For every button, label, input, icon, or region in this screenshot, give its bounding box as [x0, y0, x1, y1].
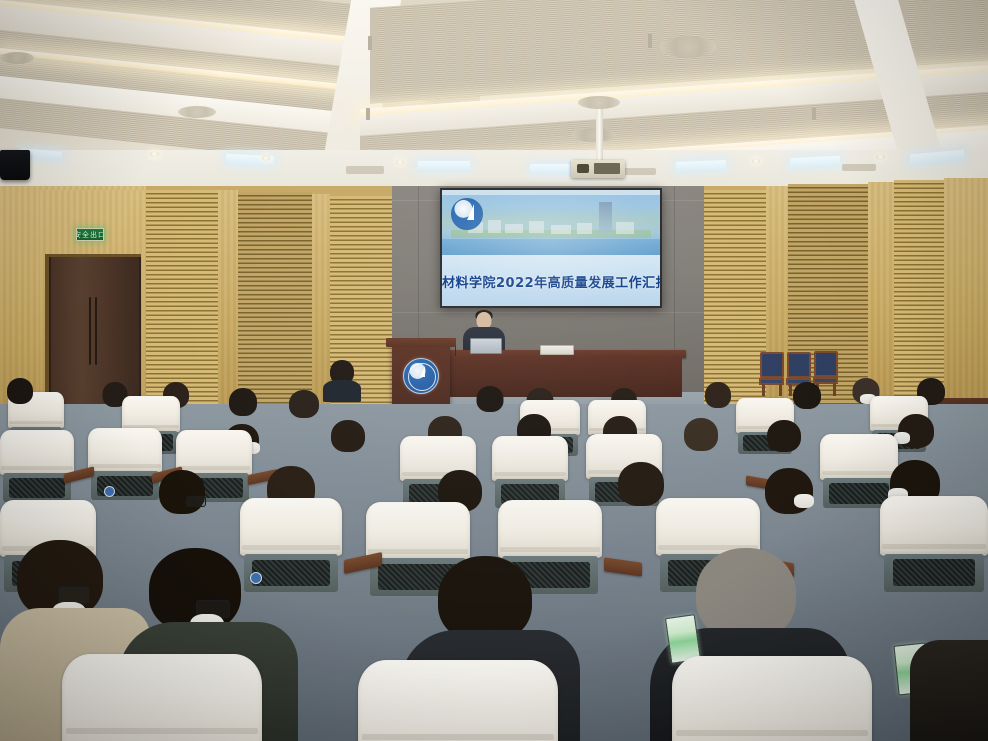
seat-r2-s5[interactable]: [492, 436, 568, 508]
seat-mesh-panel: [9, 478, 65, 498]
seat-mesh-panel: [252, 560, 330, 586]
attendee-person: [760, 420, 808, 462]
seat-r4-s3[interactable]: [672, 656, 872, 741]
attendee-head: [331, 420, 365, 452]
projector-body-detail: [594, 163, 620, 174]
side-chair-leg: [762, 384, 765, 396]
face-mask: [794, 494, 814, 508]
ceiling-air-vent: [842, 164, 876, 171]
ceiling-air-diffuser: [572, 128, 616, 142]
seat-cover-band: [500, 547, 600, 552]
ceiling-downlight: [396, 159, 404, 165]
seat-cover-band: [362, 734, 554, 740]
seat-mesh-panel: [893, 559, 975, 586]
campus-building: [529, 221, 544, 233]
attendee-person: [676, 418, 726, 462]
lectern-top: [386, 338, 456, 347]
side-chair[interactable]: [760, 352, 784, 396]
seat-r3-s6[interactable]: [880, 496, 988, 592]
lectern-university-emblem-icon: [403, 358, 439, 394]
attendee-person: [324, 360, 360, 394]
campus-tower-building: [599, 202, 612, 235]
projector-mount-pole: [596, 104, 603, 162]
door-handle-icon[interactable]: [95, 297, 97, 365]
ceiling-air-vent: [346, 166, 384, 174]
exit-sign-label: 安全出口: [76, 230, 104, 240]
seat-cover-band: [66, 728, 258, 734]
attendee-coat: [910, 640, 988, 741]
led-panel-light: [418, 161, 470, 170]
attendee-head: [229, 388, 257, 416]
side-chair-back: [814, 351, 838, 377]
attendee-head: [767, 420, 801, 452]
presenter-laptop[interactable]: [470, 338, 502, 354]
ceiling-downlight: [262, 155, 270, 161]
attendee-person: [756, 468, 822, 530]
university-sailboat-emblem-icon: [451, 198, 483, 230]
attendee-head: [696, 548, 796, 640]
attendee-head: [477, 386, 504, 412]
seat-r2-s1[interactable]: [0, 430, 74, 502]
seat-cover-band: [368, 549, 468, 554]
campus-river: [442, 239, 660, 255]
slide-title: 材料学院2022年高质量发展工作汇报: [442, 272, 660, 291]
led-panel-light: [676, 160, 726, 171]
eyeglasses: [186, 496, 206, 507]
campus-building: [488, 220, 501, 233]
attendee-head: [705, 382, 731, 408]
sailboat-sail-shape: [420, 366, 425, 377]
projector-lens-icon: [577, 164, 589, 173]
tile-seam: [392, 312, 704, 313]
projection-screen: 材料学院2022年高质量发展工作汇报: [442, 190, 660, 306]
side-chair-back: [760, 352, 784, 378]
projector-ceiling-plate: [578, 96, 620, 109]
ceiling-hanger: [366, 108, 370, 120]
ceiling-air-diffuser: [178, 106, 216, 118]
attendee-person: [150, 470, 214, 528]
attendee-head: [159, 470, 205, 514]
attendee-person: [324, 420, 372, 460]
attendee-head: [684, 418, 718, 451]
slide-title-band: 材料学院2022年高质量发展工作汇报: [442, 255, 660, 306]
attendee-person: [470, 386, 510, 416]
sailboat-sail-shape: [467, 204, 474, 220]
door-handle-icon[interactable]: [89, 297, 91, 365]
attendee-person: [698, 382, 738, 412]
side-chair-leg: [779, 384, 782, 396]
seat-r4-s1[interactable]: [62, 654, 262, 741]
campus-building: [577, 223, 592, 234]
campus-building: [505, 224, 522, 234]
seat-cover-band: [89, 464, 160, 468]
wall-panel-slat: [238, 192, 312, 420]
seat-headrest-cover: [672, 656, 872, 741]
ceiling-hanger: [648, 34, 652, 48]
ceiling-downlight: [876, 154, 885, 160]
attendee-head: [7, 378, 33, 404]
projection-screen-frame: 材料学院2022年高质量发展工作汇报: [440, 188, 662, 308]
seat-cover-band: [676, 730, 868, 736]
emergency-exit-sign: 安全出口: [76, 228, 104, 241]
campus-building: [616, 222, 633, 233]
attendee-person: [282, 390, 326, 422]
speaker-nameplate: [540, 345, 574, 355]
seat-headrest-cover: [358, 660, 558, 741]
wall-panel-slat: [704, 190, 766, 412]
campus-building: [551, 225, 571, 234]
seat-number-badge: [104, 486, 115, 497]
ceiling-air-diffuser: [660, 36, 716, 58]
ceiling-hanger: [812, 108, 816, 120]
seat-cover-band: [494, 472, 567, 476]
side-chair-back: [787, 352, 811, 378]
attendee-head: [793, 382, 821, 409]
attendee-person: [0, 378, 40, 408]
seat-cover-band: [882, 544, 986, 549]
attendee-torso: [323, 380, 361, 402]
ceiling-downlight: [752, 158, 760, 164]
seat-cover-band: [9, 421, 63, 424]
ceiling-downlight: [150, 151, 159, 157]
attendee-person: [222, 388, 264, 418]
projector: [571, 160, 625, 178]
ceiling-hanger: [368, 36, 372, 50]
ceiling-air-diffuser: [0, 52, 34, 64]
seat-r4-s2[interactable]: [358, 660, 558, 741]
ceiling-air-vent: [622, 168, 656, 175]
side-chair-leg: [833, 383, 836, 396]
attendee-head: [289, 390, 319, 418]
seat-cover-band: [1, 466, 72, 470]
wall-speaker: [0, 150, 30, 180]
conference-hall-photo: 安全出口: [0, 0, 988, 741]
